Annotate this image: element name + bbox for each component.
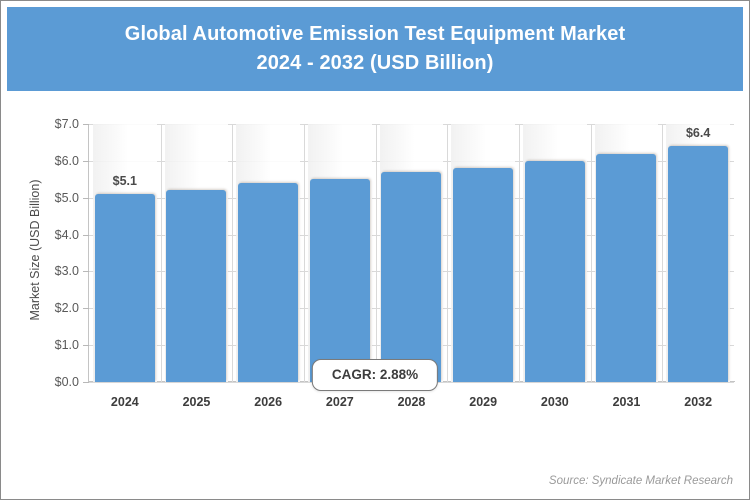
bar-2028[interactable] — [381, 172, 441, 382]
y-axis-tick — [83, 382, 89, 383]
page-title-line-1: Global Automotive Emission Test Equipmen… — [125, 20, 625, 49]
x-axis-tick-label-2029: 2029 — [469, 395, 497, 409]
x-axis-tick-label-2028: 2028 — [398, 395, 426, 409]
y-axis-tick-label: $2.0 — [55, 301, 79, 315]
x-axis-tick-label-2024: 2024 — [111, 395, 139, 409]
y-axis-tick-label: $7.0 — [55, 117, 79, 131]
x-axis-tick-label-2027: 2027 — [326, 395, 354, 409]
chart-body: Market Size (USD Billion) $0.0$1.0$2.0$3… — [1, 93, 749, 499]
bar-value-label-2032: $6.4 — [686, 126, 710, 140]
chart-category-2031: 2031 — [591, 124, 663, 382]
bar-2032[interactable] — [668, 146, 728, 382]
chart-category-2026: 2026 — [232, 124, 304, 382]
x-axis-tick-label-2026: 2026 — [254, 395, 282, 409]
chart-category-2025: 2025 — [161, 124, 233, 382]
x-axis-tick-label-2032: 2032 — [684, 395, 712, 409]
y-axis-tick-label: $5.0 — [55, 191, 79, 205]
bar-value-label-2024: $5.1 — [113, 174, 137, 188]
chart-header-banner: Global Automotive Emission Test Equipmen… — [7, 7, 743, 91]
plot-area: $0.0$1.0$2.0$3.0$4.0$5.0$6.0$7.0$5.12024… — [89, 124, 734, 382]
y-axis-tick-label: $4.0 — [55, 228, 79, 242]
bar-2026[interactable] — [238, 183, 298, 382]
chart-infographic: Global Automotive Emission Test Equipmen… — [0, 0, 750, 500]
chart-category-2028: 2028 — [376, 124, 448, 382]
chart-category-2030: 2030 — [519, 124, 591, 382]
bar-2029[interactable] — [453, 168, 513, 382]
bar-2031[interactable] — [596, 154, 656, 383]
y-axis-tick-label: $1.0 — [55, 338, 79, 352]
y-axis-tick-label: $3.0 — [55, 264, 79, 278]
chart-category-2029: 2029 — [447, 124, 519, 382]
x-axis-tick-label-2030: 2030 — [541, 395, 569, 409]
y-axis-tick-label: $0.0 — [55, 375, 79, 389]
bar-2024[interactable] — [95, 194, 155, 382]
x-axis-tick-label-2025: 2025 — [183, 395, 211, 409]
source-note: Source: Syndicate Market Research — [549, 475, 733, 487]
y-axis-title: Market Size (USD Billion) — [28, 130, 42, 370]
chart-category-2032: $6.42032 — [662, 124, 734, 382]
x-axis-tick-label-2031: 2031 — [613, 395, 641, 409]
chart-category-2027: 2027 — [304, 124, 376, 382]
cagr-badge: CAGR: 2.88% — [312, 359, 438, 391]
bar-2027[interactable] — [310, 179, 370, 382]
bar-2025[interactable] — [166, 190, 226, 382]
bar-2030[interactable] — [525, 161, 585, 382]
chart-category-2024: $5.12024 — [89, 124, 161, 382]
y-axis-tick-label: $6.0 — [55, 154, 79, 168]
page-title-line-2: 2024 - 2032 (USD Billion) — [256, 49, 493, 78]
